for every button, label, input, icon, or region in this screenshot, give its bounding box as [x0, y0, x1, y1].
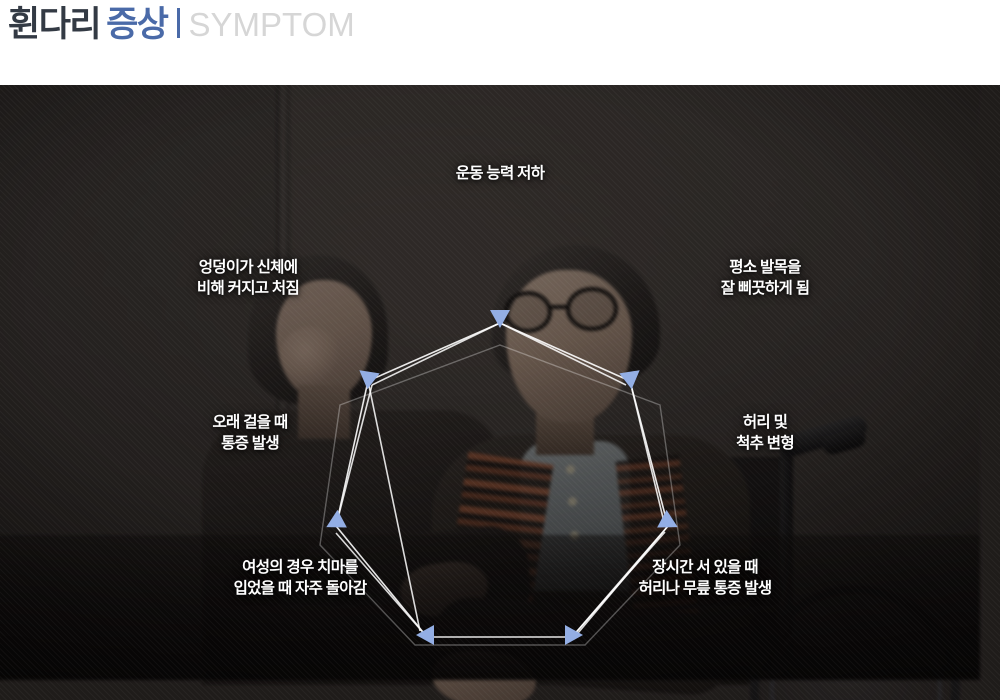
symptom-label-spine-deform: 허리 및 척추 변형	[680, 412, 850, 455]
page-title: 휜다리 증상 SYMPTOM	[8, 6, 355, 42]
page-header: 휜다리 증상 SYMPTOM	[0, 0, 1000, 85]
symptom-label-skirt-rotation: 여성의 경우 치마를 입었을 때 자주 돌아감	[175, 557, 425, 600]
symptom-label-ankle-sprain: 평소 발목을 잘 삐끗하게 됨	[665, 257, 865, 300]
symptom-page: 휜다리 증상 SYMPTOM	[0, 0, 1000, 700]
title-english: SYMPTOM	[189, 8, 355, 41]
title-divider	[177, 8, 180, 38]
arrowhead-hip-enlarged	[353, 362, 379, 389]
arrowhead-walking-pain	[322, 510, 347, 536]
symptom-label-motor-ability: 운동 능력 저하	[380, 163, 620, 184]
inner-heptagon-outline	[320, 345, 680, 645]
hero-photo: 운동 능력 저하 평소 발목을 잘 삐끗하게 됨 허리 및 척추 변형 장시간 …	[0, 85, 1000, 700]
symptom-label-standing-pain: 장시간 서 있을 때 허리나 무릎 통증 발생	[585, 557, 825, 600]
title-korean-primary: 휜다리	[8, 7, 100, 42]
symptom-label-hip-enlarged: 엉덩이가 신체에 비해 커지고 처짐	[148, 257, 348, 300]
arrowhead-ankle-sprain	[619, 362, 645, 389]
title-korean-accent: 증상	[106, 7, 167, 42]
symptom-label-walking-pain: 오래 걸을 때 통증 발생	[165, 412, 335, 455]
